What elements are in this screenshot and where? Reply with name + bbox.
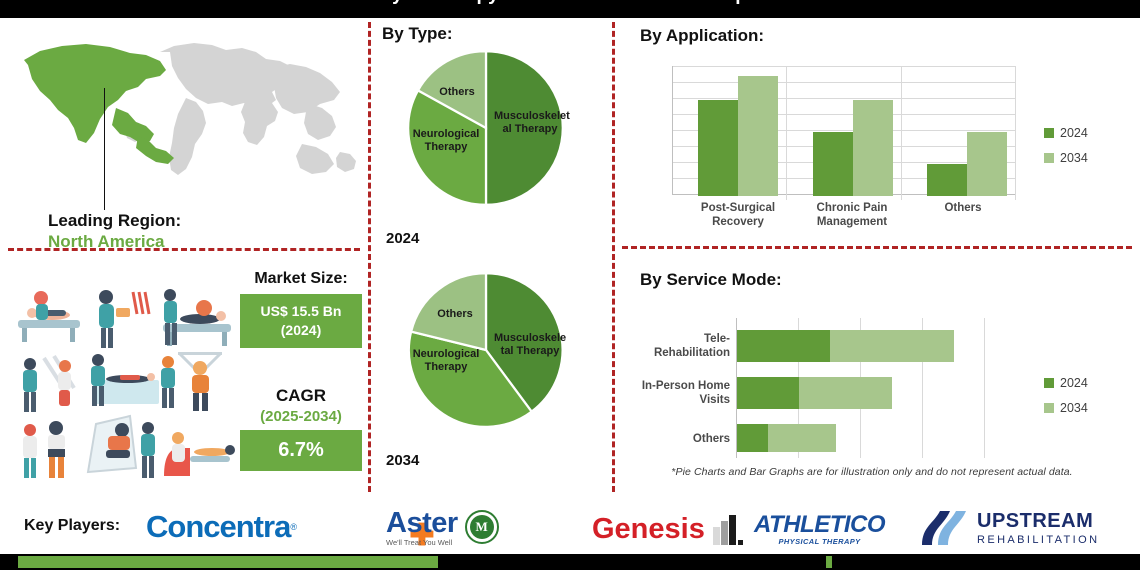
legend-item-2034: 2034: [1044, 401, 1088, 415]
chart-footnote: *Pie Charts and Bar Graphs are for illus…: [622, 466, 1122, 478]
world-map-svg: [10, 24, 362, 189]
divider-right-vertical: [612, 22, 615, 492]
logo-upstream-sub: REHABILITATION: [977, 534, 1099, 546]
title-bar: Physiotherapy Market Size and Share Repo…: [0, 0, 1140, 18]
service-mode-bar-chart: Tele- Rehabilitation In-Person Home Visi…: [736, 318, 986, 458]
pie-label-others-2034: Others: [426, 308, 484, 321]
logo-aster[interactable]: Aster We'll Treat You Well M: [386, 507, 499, 547]
logo-aster-tagline: We'll Treat You Well: [386, 538, 458, 547]
service-mode-chart-legend: 2024 2034: [1044, 376, 1088, 426]
application-bar-chart: Post-Surgical Recovery Chronic Pain Mana…: [672, 66, 1016, 196]
gridline: [672, 82, 1016, 83]
hbar-in-person-home-visits: [737, 377, 892, 409]
hbar-seg-tele-2034: [830, 330, 954, 362]
hcat-label-tele-rehabilitation: Tele- Rehabilitation: [620, 332, 730, 361]
application-chart-legend: 2024 2034: [1044, 126, 1088, 176]
north-america-highlight: [24, 44, 174, 164]
bottom-bar-tick: [826, 556, 832, 568]
pie-label-neurological-2024: Neurological Therapy: [408, 128, 484, 153]
bar-post-surgical-2024: [698, 100, 738, 196]
leading-region-label: Leading Region:: [48, 210, 348, 231]
legend-swatch-2024: [1044, 128, 1054, 138]
bar-chronic-pain-2034: [853, 100, 893, 196]
logo-aster-text: Aster: [386, 507, 458, 540]
pie-label-others-2024: Others: [428, 86, 486, 99]
logo-genesis-text: Genesis: [592, 513, 705, 546]
hbar-seg-in-person-2034: [799, 377, 892, 409]
gridline: [672, 66, 1016, 67]
pie-year-2034: 2034: [386, 452, 419, 469]
legend-item-2034: 2034: [1044, 151, 1088, 165]
leading-region-block: Leading Region: North America: [48, 210, 348, 253]
cagr-range: (2025-2034): [240, 408, 362, 425]
hbar-others: [737, 424, 836, 452]
legend-item-2024: 2024: [1044, 126, 1088, 140]
legend-swatch-2034: [1044, 403, 1054, 413]
application-and-service-column: By Application: Post-Su: [616, 18, 1140, 501]
aster-seal-icon: M: [465, 510, 499, 544]
hbar-seg-tele-2024: [737, 330, 830, 362]
pie-label-musculoskeletal-2024: Musculoskelet al Therapy: [494, 110, 566, 135]
bottom-bar-accent: [18, 556, 438, 568]
world-map: [10, 24, 362, 189]
category-label-chronic-pain: Chronic Pain Management: [792, 202, 912, 230]
hcat-label-others: Others: [620, 432, 730, 446]
market-size-label: Market Size:: [240, 270, 362, 288]
pie-chart-2024: Musculoskelet al Therapy Neurological Th…: [406, 48, 566, 208]
by-type-title: By Type:: [382, 24, 453, 44]
category-tick: [901, 66, 902, 200]
region-and-market-column: Leading Region: North America: [0, 18, 368, 501]
legend-label-2034: 2034: [1060, 151, 1088, 165]
category-label-post-surgical: Post-Surgical Recovery: [678, 202, 798, 230]
market-size-value-line2: (2024): [244, 321, 358, 340]
market-size-block: Market Size: US$ 15.5 Bn (2024) CAGR (20…: [240, 270, 362, 471]
logo-concentra[interactable]: Concentra ✚ ®: [146, 509, 297, 545]
legend-item-2024: 2024: [1044, 376, 1088, 390]
infographic-canvas: Leading Region: North America: [0, 18, 1140, 501]
page-title: Physiotherapy Market Size and Share Repo…: [0, 0, 1140, 6]
physiotherapy-illustration: [8, 280, 238, 485]
key-players-footer: Key Players: Concentra ✚ ® Aster We'll T…: [0, 501, 1140, 554]
gridline: [672, 98, 1016, 99]
logo-athletico[interactable]: ATHLETICO PHYSICAL THERAPY: [754, 511, 885, 546]
upstream-wave-icon: [918, 509, 968, 547]
hbar-seg-others-2024: [737, 424, 768, 452]
legend-label-2024: 2024: [1060, 126, 1088, 140]
genesis-mark-icon: [711, 515, 745, 545]
bar-chronic-pain-2024: [813, 132, 853, 196]
market-size-value-line1: US$ 15.5 Bn: [244, 302, 358, 321]
pie-chart-2034: Musculoskele tal Therapy Neurological Th…: [406, 270, 566, 430]
divider-left-vertical: [368, 22, 371, 492]
leader-line: [104, 88, 105, 210]
category-label-others: Others: [908, 202, 1018, 216]
hbar-seg-others-2034: [768, 424, 836, 452]
logo-upstream-text: UPSTREAM: [977, 510, 1099, 533]
bar-post-surgical-2034: [738, 76, 778, 196]
cagr-value-box: 6.7%: [240, 430, 362, 471]
by-service-mode-title: By Service Mode:: [640, 270, 782, 290]
legend-swatch-2024: [1044, 378, 1054, 388]
legend-label-2034: 2034: [1060, 401, 1088, 415]
category-tick: [1015, 66, 1016, 200]
registered-icon: ®: [290, 522, 297, 532]
legend-label-2024: 2024: [1060, 376, 1088, 390]
by-type-column: By Type: Musculoskelet al Therapy Neurol…: [372, 18, 612, 501]
logo-upstream[interactable]: UPSTREAM REHABILITATION: [918, 509, 1099, 547]
gridline: [984, 318, 985, 458]
aster-seal-letter: M: [470, 515, 494, 539]
pie-year-2024: 2024: [386, 230, 419, 247]
market-size-value-box: US$ 15.5 Bn (2024): [240, 294, 362, 348]
hbar-seg-in-person-2024: [737, 377, 799, 409]
category-tick: [786, 66, 787, 200]
logo-concentra-text: Concentra: [146, 509, 290, 545]
hcat-label-in-person-home-visits: In-Person Home Visits: [614, 379, 730, 408]
by-application-title: By Application:: [640, 26, 764, 46]
bar-others-2034: [967, 132, 1007, 196]
logo-athletico-sub: PHYSICAL THERAPY: [754, 537, 885, 546]
key-players-label: Key Players:: [24, 517, 120, 535]
hbar-tele-rehabilitation: [737, 330, 954, 362]
physiotherapy-illustration-svg: [8, 280, 238, 485]
bottom-bar: [0, 554, 1140, 570]
bar-others-2024: [927, 164, 967, 196]
legend-swatch-2034: [1044, 153, 1054, 163]
cagr-label: CAGR: [240, 386, 362, 406]
y-axis: [672, 66, 673, 194]
logo-genesis[interactable]: Genesis: [592, 513, 745, 546]
pie-label-musculoskeletal-2034: Musculoskele tal Therapy: [494, 332, 566, 357]
pie-label-neurological-2034: Neurological Therapy: [406, 348, 486, 373]
logo-athletico-text: ATHLETICO: [754, 511, 885, 539]
leading-region-value: North America: [48, 231, 348, 253]
